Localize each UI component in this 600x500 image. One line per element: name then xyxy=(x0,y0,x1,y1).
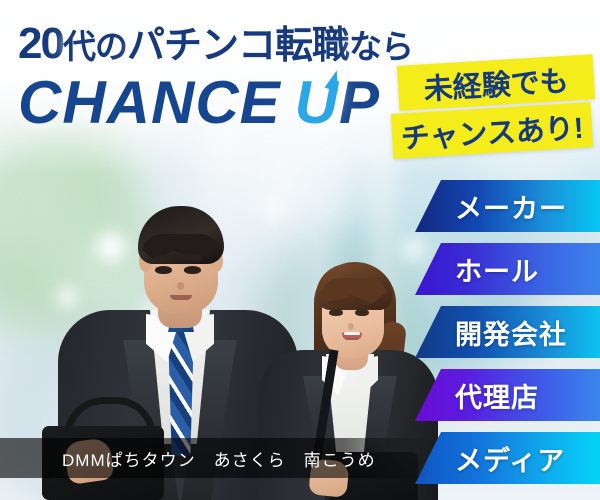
man-nose xyxy=(177,282,184,290)
category-label: メーカー xyxy=(455,187,567,226)
category-item-hall[interactable]: ホール xyxy=(415,243,600,295)
man-mouth xyxy=(170,295,192,300)
headline-keyword: パチンコ転職 xyxy=(127,25,349,67)
credit-strip: DMMぱちタウン あさくら 南こうめ xyxy=(0,438,430,478)
man-eye-right xyxy=(184,266,201,274)
badge-label: 未経験でも xyxy=(422,57,569,108)
category-label: ホール xyxy=(455,250,539,289)
woman-mouth xyxy=(342,332,362,340)
category-item-media[interactable]: メディア xyxy=(415,432,600,484)
woman-nose xyxy=(348,323,354,330)
woman-eye-right xyxy=(355,309,369,316)
category-item-agency[interactable]: 代理店 xyxy=(415,369,600,421)
headline-text: 20代のパチンコ転職なら xyxy=(18,14,413,69)
badge-label: チャンスあり! xyxy=(400,104,585,157)
man-eye-left xyxy=(155,266,172,274)
chance-up-logo: CHANCEUP xyxy=(18,68,380,137)
credit-text: DMMぱちタウン あさくら 南こうめ xyxy=(62,446,376,471)
logo-word-chance: CHANCE xyxy=(18,69,281,136)
category-label: メディア xyxy=(455,439,565,478)
category-label: 開発会社 xyxy=(455,313,567,352)
headline-tail: なら xyxy=(349,28,413,65)
headline-rest: 代の xyxy=(63,28,127,65)
advertisement-banner[interactable]: 20代のパチンコ転職なら CHANCEUP 未経験でも チャンスあり! メーカー… xyxy=(0,0,600,500)
category-label: 代理店 xyxy=(455,376,539,415)
logo-letter-p: P xyxy=(339,69,380,136)
woman-eye-left xyxy=(329,309,343,316)
logo-letter-u: U xyxy=(295,68,339,137)
category-item-maker[interactable]: メーカー xyxy=(415,180,600,232)
headline-number: 20 xyxy=(18,19,63,68)
logo-word-up: UP xyxy=(295,69,380,136)
category-item-development-company[interactable]: 開発会社 xyxy=(415,306,600,358)
